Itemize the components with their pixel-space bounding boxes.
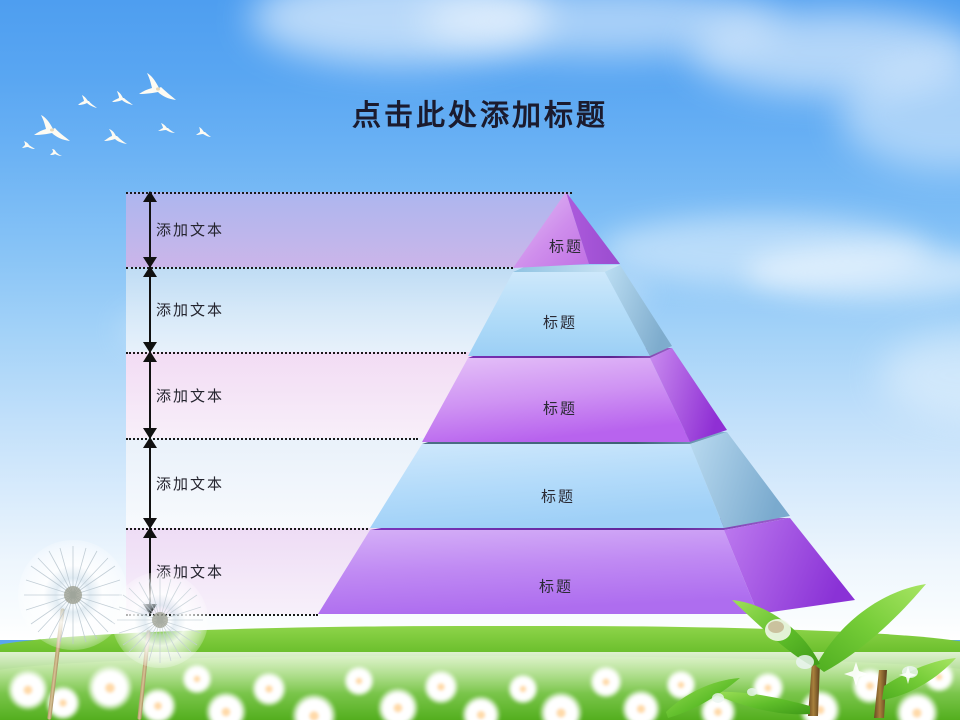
guide-line [126,267,513,269]
dandelion-icon [590,666,622,698]
slide-title[interactable]: 点击此处添加标题 [0,92,960,134]
dandelion-icon [424,670,458,704]
measure-arrow [149,352,151,438]
guide-line [126,352,466,354]
dandelion-icon [378,688,418,720]
dandelion-icon [622,690,660,720]
text-band-label: 添加文本 [156,473,224,494]
text-band[interactable]: 添加文本 [126,438,570,528]
dandelion-icon [140,688,176,720]
dove-icon [22,140,36,150]
dandelion-seed-rays [112,572,208,668]
guide-line [126,528,368,530]
text-band-label: 添加文本 [156,219,224,240]
text-bands-panel: 添加文本 添加文本 添加文本 添加文本 添加文本 [126,192,570,614]
dandelion-icon [88,666,132,710]
dove-icon [50,148,63,157]
measure-arrow [149,192,151,267]
seedling-icon [660,566,960,720]
text-band[interactable]: 添加文本 [126,192,570,267]
dandelion-icon [344,666,374,696]
dandelion-icon [8,670,48,710]
dandelion-icon [182,664,212,694]
guide-line [126,192,572,194]
dandelion-icon [252,672,286,706]
dandelion-icon [508,674,538,704]
measure-arrow [149,438,151,528]
text-band[interactable]: 添加文本 [126,352,570,438]
slide-canvas: 点击此处添加标题 添加文本 添加文本 添加文本 添加文本 添加文本 [0,0,960,720]
text-band-label: 添加文本 [156,385,224,406]
measure-arrow [149,267,151,352]
text-band[interactable]: 添加文本 [126,267,570,352]
guide-line [126,438,418,440]
text-band-label: 添加文本 [156,299,224,320]
